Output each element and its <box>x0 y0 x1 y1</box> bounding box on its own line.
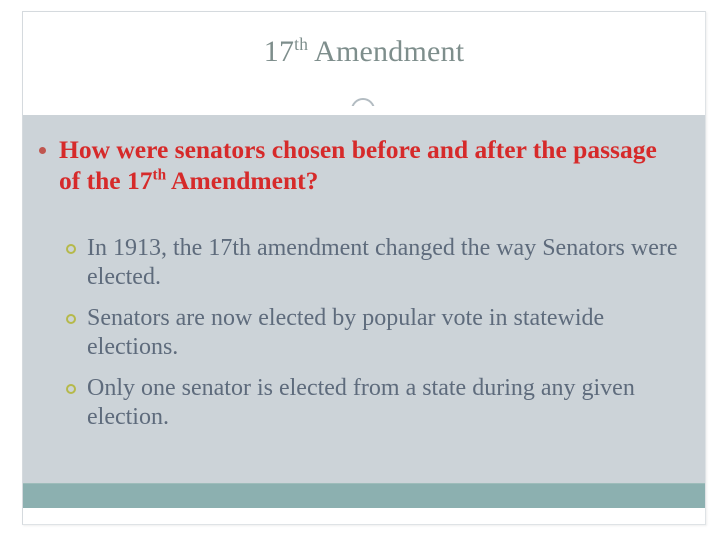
bullet-ring-icon <box>66 384 76 394</box>
list-item: In 1913, the 17th amendment changed the … <box>31 234 687 292</box>
body-top-spacer <box>23 106 705 115</box>
list-item-text: Only one senator is elected from a state… <box>87 375 635 430</box>
slide-content: How were senators chosen before and afte… <box>23 115 705 490</box>
question-number: 17 <box>127 166 153 195</box>
list-item: Only one senator is elected from a state… <box>31 374 687 432</box>
footer-accent-bar <box>23 483 705 508</box>
question-text-part2: Amendment? <box>166 166 318 195</box>
page-title-number: 17 <box>264 35 294 68</box>
slide-header: 17th Amendment <box>23 12 705 106</box>
question-bullet: How were senators chosen before and afte… <box>31 134 684 196</box>
page-title-rest: Amendment <box>308 35 464 68</box>
bullet-ring-icon <box>66 244 76 254</box>
list-item-text: In 1913, the 17th amendment changed the … <box>87 235 677 290</box>
slide: 17th Amendment How were senators chosen … <box>22 11 706 525</box>
page-title: 17th Amendment <box>23 34 705 70</box>
slide-body: How were senators chosen before and afte… <box>23 106 705 524</box>
question-ordinal-suffix: th <box>152 167 166 184</box>
bullet-ring-icon <box>66 314 76 324</box>
sub-points-list: In 1913, the 17th amendment changed the … <box>31 234 687 432</box>
footer-white-strip <box>23 508 705 524</box>
bullet-dot-icon <box>39 147 46 154</box>
page-title-ordinal-suffix: th <box>294 34 308 54</box>
list-item: Senators are now elected by popular vote… <box>31 304 687 362</box>
list-item-text: Senators are now elected by popular vote… <box>87 305 604 360</box>
